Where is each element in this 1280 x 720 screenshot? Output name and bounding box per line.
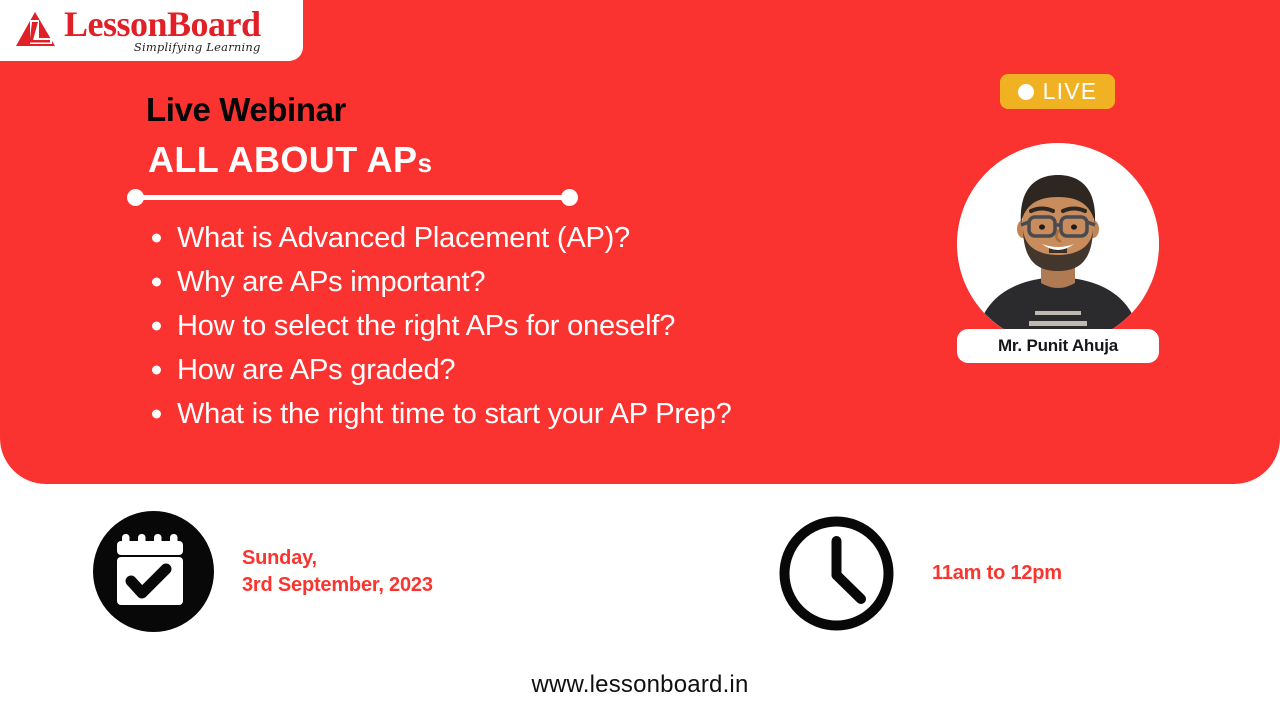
- event-title: ALL ABOUT APs: [148, 139, 432, 181]
- speaker-avatar: [957, 143, 1159, 345]
- list-item: How are APs graded?: [146, 348, 936, 392]
- list-item: How to select the right APs for oneself?: [146, 304, 936, 348]
- event-date-day: Sunday,: [242, 547, 317, 569]
- brand-tagline: Simplifying Learning: [64, 42, 261, 54]
- title-divider: [127, 189, 578, 206]
- brand-logo[interactable]: LessonBoard Simplifying Learning: [0, 0, 303, 61]
- clock-icon: [776, 513, 897, 634]
- calendar-check-icon: [93, 511, 214, 632]
- event-date-block: Sunday, 3rd September, 2023: [93, 511, 433, 632]
- list-item: What is Advanced Placement (AP)?: [146, 216, 936, 260]
- list-item: What is the right time to start your AP …: [146, 392, 936, 436]
- topics-list: What is Advanced Placement (AP)? Why are…: [146, 216, 936, 436]
- live-status-badge: LIVE: [1000, 74, 1115, 109]
- brand-name: LessonBoard: [64, 7, 261, 41]
- event-title-suffix: s: [417, 148, 432, 178]
- divider-dot-right-icon: [561, 189, 578, 206]
- event-time-block: 11am to 12pm: [776, 513, 1062, 634]
- event-title-main: ALL ABOUT AP: [148, 139, 417, 180]
- list-item: Why are APs important?: [146, 260, 936, 304]
- event-time-text: 11am to 12pm: [932, 560, 1062, 587]
- speaker-portrait-illustration: [957, 143, 1159, 345]
- speaker-card: Mr. Punit Ahuja: [957, 143, 1159, 345]
- divider-line: [135, 195, 570, 200]
- website-url[interactable]: www.lessonboard.in: [0, 671, 1280, 699]
- speaker-name-label: Mr. Punit Ahuja: [957, 329, 1159, 363]
- live-dot-icon: [1018, 84, 1034, 100]
- event-kicker: Live Webinar: [146, 91, 346, 129]
- live-badge-label: LIVE: [1043, 80, 1098, 103]
- event-date-full: 3rd September, 2023: [242, 574, 433, 596]
- lessonboard-triangle-l-mark-icon: [14, 10, 60, 52]
- event-date-text: Sunday, 3rd September, 2023: [242, 545, 433, 599]
